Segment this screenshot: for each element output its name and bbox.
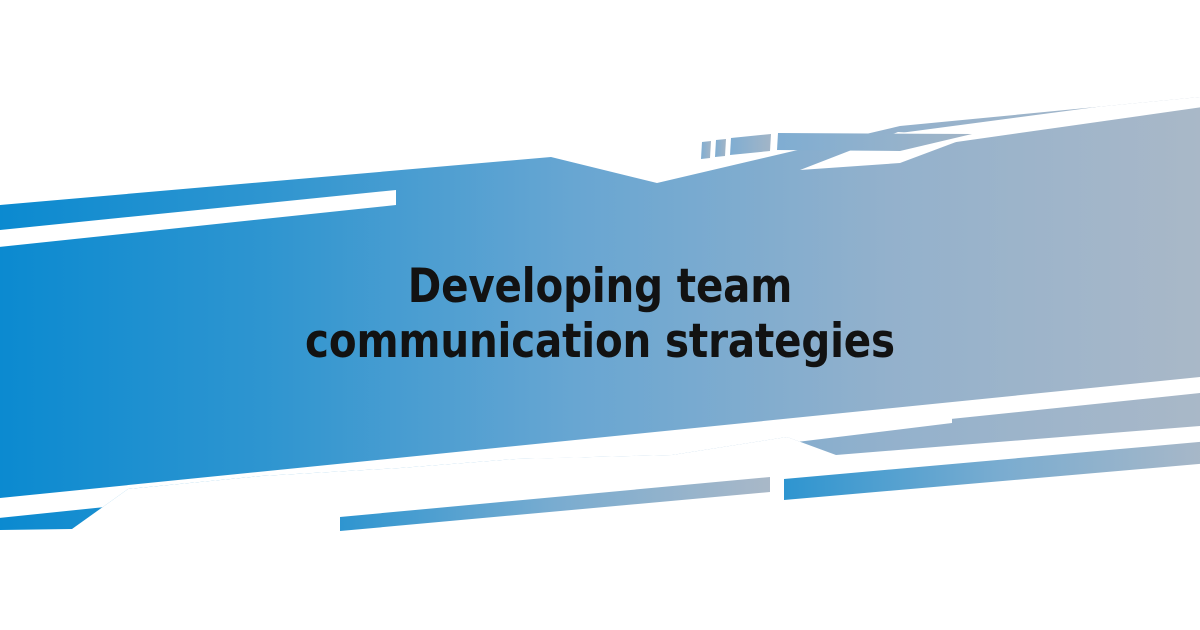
dash-mark-1 [701,141,711,159]
dash-mark-3 [730,134,771,155]
banner-card: Developing team communication strategies [0,0,1200,630]
accent-bar-left [340,477,770,531]
dash-mark-2 [715,139,726,157]
decorative-background-graphic [0,0,1200,630]
